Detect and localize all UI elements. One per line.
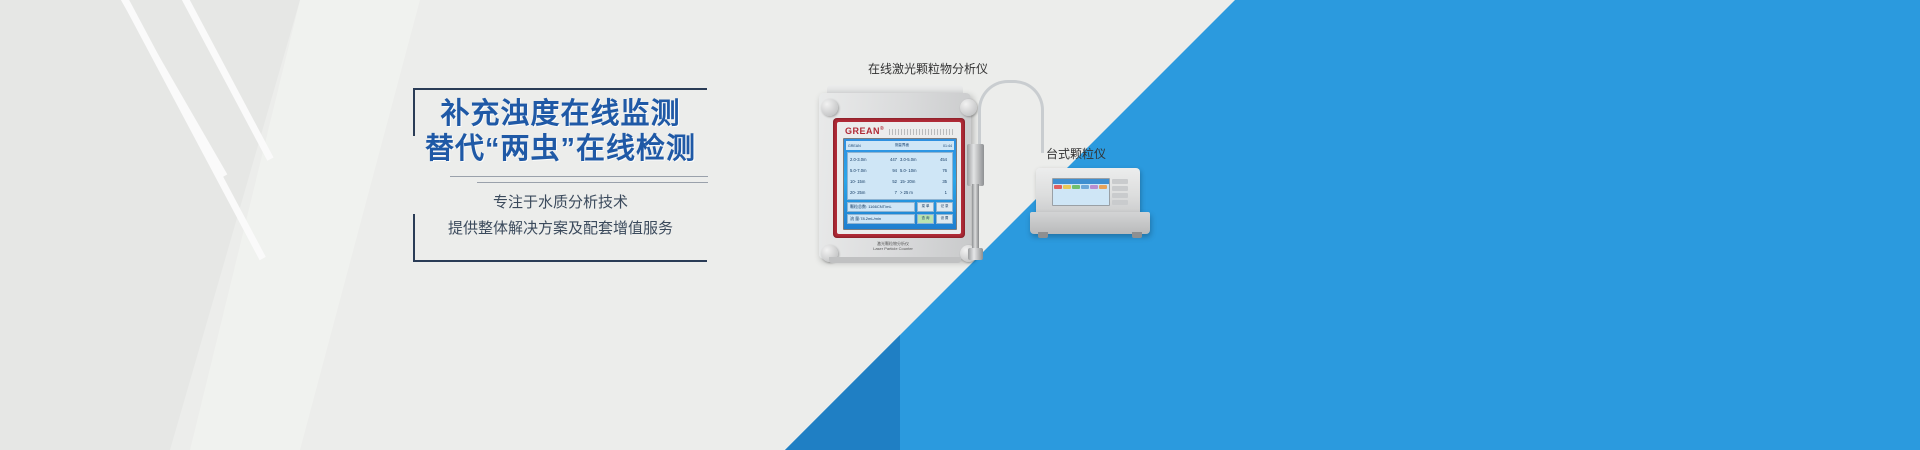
hero-headline: 补充浊度在线监测 替代“两虫”在线检测 <box>413 88 708 166</box>
analyzer-latch-icon <box>821 99 838 116</box>
analyzer-enclosure: GREAN® GREAN 测量界面 01:44 2.0-3.0m 447 <box>819 93 971 259</box>
cell-value-2: 76 <box>924 165 951 176</box>
cell-value-1: 7 <box>874 187 901 198</box>
table-row: 10- 15m 52 15- 20m 35 <box>850 176 950 187</box>
lcd-settings-button[interactable]: 设 置 <box>936 214 953 224</box>
subtitle-line-2: 提供整体解决方案及配套增值服务 <box>413 216 708 242</box>
benchtop-base <box>1030 212 1150 234</box>
lcd-menu-button[interactable]: 菜 单 <box>917 202 934 212</box>
benchtop-button[interactable] <box>1112 186 1128 191</box>
headline-line-1: 补充浊度在线监测 <box>413 97 708 131</box>
analyzer-bottom-cover <box>829 257 961 263</box>
display-chip-icon <box>1081 185 1089 189</box>
brand-trademark-icon: ® <box>880 126 884 132</box>
lcd-particle-table: 2.0-3.0m 447 3.0-5.0m 454 5.0-7.0m 94 5.… <box>847 152 953 200</box>
benchtop-foot <box>1132 232 1142 238</box>
cell-range-1: 20- 25m <box>850 187 874 198</box>
benchtop-display[interactable] <box>1052 178 1110 206</box>
probe-stem <box>972 184 979 254</box>
lcd-status-row-1: 颗粒总数: 1166CNT/mL 菜 单 记 录 <box>847 202 953 212</box>
analyzer-caption: 激光颗粒物分析仪 Laser Particle Counter <box>863 241 923 251</box>
vent-grille-icon <box>889 129 955 135</box>
cell-value-2: 1 <box>924 187 951 198</box>
analyzer-front-panel: GREAN® GREAN 测量界面 01:44 2.0-3.0m 447 <box>837 122 961 234</box>
analyzer-red-bezel: GREAN® GREAN 测量界面 01:44 2.0-3.0m 447 <box>833 118 965 238</box>
lcd-title-bar: GREAN 测量界面 01:44 <box>846 141 954 150</box>
benchtop-top-housing <box>1036 168 1140 214</box>
probe-cylinder <box>967 144 984 186</box>
lcd-flow-rate-field: 流 量:78.2mL/min <box>847 214 915 224</box>
cell-range-1: 5.0-7.0m <box>850 165 874 176</box>
cell-value-1: 94 <box>874 165 901 176</box>
divider-line-2 <box>477 182 708 183</box>
cell-range-1: 2.0-3.0m <box>850 154 874 165</box>
brand-name: GREAN <box>845 126 880 136</box>
benchtop-button-panel[interactable] <box>1112 179 1128 205</box>
analyzer-latch-icon <box>960 99 977 116</box>
display-chip-icon <box>1063 185 1071 189</box>
table-row: 20- 25m 7 > 25 m 1 <box>850 187 950 198</box>
headline-divider <box>413 176 708 186</box>
online-laser-particle-analyzer: GREAN® GREAN 测量界面 01:44 2.0-3.0m 447 <box>815 85 975 265</box>
benchtop-display-content <box>1053 184 1109 190</box>
lcd-total-count-field: 颗粒总数: 1166CNT/mL <box>847 202 915 212</box>
probe-end-cap <box>968 248 983 260</box>
sample-tubing <box>978 80 1044 153</box>
table-row: 5.0-7.0m 94 5.0- 10m 76 <box>850 165 950 176</box>
brand-logo: GREAN® <box>845 126 884 136</box>
cell-value-1: 52 <box>874 176 901 187</box>
analyzer-caption-en: Laser Particle Counter <box>863 246 923 251</box>
subtitle-line-1: 专注于水质分析技术 <box>413 190 708 216</box>
benchtop-foot <box>1038 232 1048 238</box>
hero-text-block: 补充浊度在线监测 替代“两虫”在线检测 专注于水质分析技术 提供整体解决方案及配… <box>413 88 708 260</box>
cell-range-1: 10- 15m <box>850 176 874 187</box>
display-chip-icon <box>1099 185 1107 189</box>
analyzer-lcd-screen[interactable]: GREAN 测量界面 01:44 2.0-3.0m 447 3.0-5.0m 4… <box>843 138 957 230</box>
display-chip-icon <box>1072 185 1080 189</box>
cell-range-2: 5.0- 10m <box>900 165 924 176</box>
cell-value-2: 35 <box>924 176 951 187</box>
label-benchtop-particle-counter: 台式颗粒仪 <box>1046 145 1106 162</box>
cell-value-1: 447 <box>874 154 901 165</box>
benchtop-button[interactable] <box>1112 200 1128 205</box>
label-online-laser-analyzer: 在线激光颗粒物分析仪 <box>868 60 988 77</box>
lcd-header-center: 测量界面 <box>895 143 909 148</box>
display-chip-icon <box>1090 185 1098 189</box>
cell-range-2: > 25 m <box>900 187 924 198</box>
divider-line-1 <box>450 176 708 177</box>
lcd-status-area: 颗粒总数: 1166CNT/mL 菜 单 记 录 流 量:78.2mL/min … <box>847 202 953 226</box>
lcd-record-button[interactable]: 记 录 <box>936 202 953 212</box>
lcd-status-row-2: 流 量:78.2mL/min 查 询 设 置 <box>847 214 953 224</box>
lcd-header-right: 01:44 <box>943 144 952 148</box>
benchtop-button[interactable] <box>1112 179 1128 184</box>
cell-range-2: 15- 20m <box>900 176 924 187</box>
lcd-header-left: GREAN <box>848 144 861 148</box>
headline-line-2: 替代“两虫”在线检测 <box>413 132 708 166</box>
lcd-query-button[interactable]: 查 询 <box>917 214 934 224</box>
cell-range-2: 3.0-5.0m <box>900 154 924 165</box>
cell-value-2: 454 <box>924 154 951 165</box>
display-chip-icon <box>1054 185 1062 189</box>
hero-banner: 补充浊度在线监测 替代“两虫”在线检测 专注于水质分析技术 提供整体解决方案及配… <box>0 0 1920 450</box>
benchtop-particle-counter <box>1030 168 1150 246</box>
table-row: 2.0-3.0m 447 3.0-5.0m 454 <box>850 154 950 165</box>
benchtop-button[interactable] <box>1112 193 1128 198</box>
sensor-probe-assembly <box>965 120 987 270</box>
hero-subtitle: 专注于水质分析技术 提供整体解决方案及配套增值服务 <box>413 190 708 242</box>
